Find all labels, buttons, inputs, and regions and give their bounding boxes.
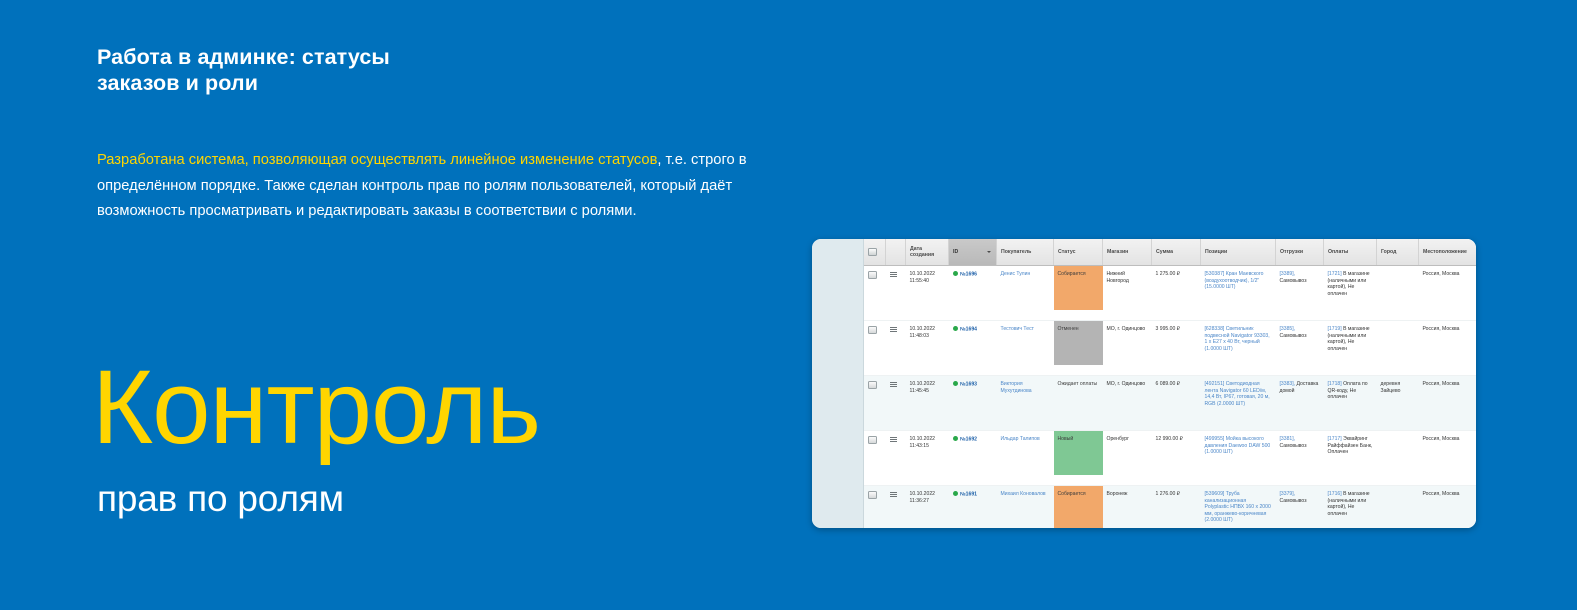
select-all-header[interactable] — [864, 239, 886, 266]
shipment-text: Самовывоз — [1280, 443, 1307, 449]
checkbox-icon[interactable] — [868, 381, 877, 389]
cell-items: [499955] Мойка высокого давления Daewoo … — [1201, 431, 1276, 486]
admin-screenshot-panel: Дата создания ID Покупатель Статус Магаз… — [812, 239, 1476, 528]
cell-payments: [1718] Оплата по QR-коду, Не оплачен — [1324, 376, 1377, 431]
cell-buyer[interactable]: Виктория Мухутдинова — [997, 376, 1054, 431]
cell-date: 10.10.2022 11:55:40 — [906, 266, 949, 321]
drag-handle-icon[interactable] — [890, 326, 897, 332]
cell-payments: [1721] В магазине (наличными или картой)… — [1324, 266, 1377, 321]
header-sum[interactable]: Сумма — [1152, 239, 1201, 266]
orders-table-body: 10.10.2022 11:55:40 №1696 Денис Тулин Со… — [864, 266, 1476, 529]
header-city[interactable]: Город — [1377, 239, 1419, 266]
slide-text-column: Работа в админке: статусы заказов и роли… — [97, 0, 797, 610]
status-dot-icon — [953, 381, 958, 386]
order-id-link[interactable]: №1692 — [960, 437, 977, 443]
item-id-link[interactable]: [628338] — [1205, 326, 1225, 332]
admin-sidebar-rail — [812, 239, 864, 528]
cell-buyer[interactable]: Ильдар Талипов — [997, 431, 1054, 486]
checkbox-icon[interactable] — [868, 248, 877, 256]
status-badge: Собирается — [1054, 266, 1103, 310]
shipment-id-link[interactable]: [3381], — [1280, 436, 1296, 442]
row-drag-cell[interactable] — [886, 431, 906, 486]
cell-items: [628338] Светильник подвесной Navigator … — [1201, 321, 1276, 376]
cell-items: [530387] Кран Маевского (воздухоотводчик… — [1201, 266, 1276, 321]
order-id-link[interactable]: №1693 — [960, 382, 977, 388]
cell-city: деревня Зайцево — [1377, 376, 1419, 431]
shipment-id-link[interactable]: [3383], — [1280, 381, 1296, 387]
status-dot-icon — [953, 436, 958, 441]
cell-buyer[interactable]: Михаил Коновалов — [997, 486, 1054, 529]
cell-location: Россия, Москва — [1419, 431, 1477, 486]
cell-city — [1377, 266, 1419, 321]
cell-sum: 3 995.00 ₽ — [1152, 321, 1201, 376]
cell-id[interactable]: №1691 — [949, 486, 997, 529]
header-status[interactable]: Статус — [1054, 239, 1103, 266]
header-date[interactable]: Дата создания — [906, 239, 949, 266]
drag-handle-icon[interactable] — [890, 436, 897, 442]
status-dot-icon — [953, 326, 958, 331]
cell-shop: Оренбург — [1103, 431, 1152, 486]
header-items[interactable]: Позиции — [1201, 239, 1276, 266]
status-badge: Новый — [1054, 431, 1103, 475]
table-row[interactable]: 10.10.2022 11:55:40 №1696 Денис Тулин Со… — [864, 266, 1476, 321]
cell-date: 10.10.2022 11:48:03 — [906, 321, 949, 376]
cell-id[interactable]: №1692 — [949, 431, 997, 486]
cell-buyer[interactable]: Денис Тулин — [997, 266, 1054, 321]
cell-date: 10.10.2022 11:45:45 — [906, 376, 949, 431]
cell-sum: 6 089.00 ₽ — [1152, 376, 1201, 431]
payment-id-link[interactable]: [1721] — [1328, 271, 1342, 277]
order-id-link[interactable]: №1694 — [960, 327, 977, 333]
drag-handle-header — [886, 239, 906, 266]
row-select-cell[interactable] — [864, 321, 886, 376]
order-id-link[interactable]: №1691 — [960, 492, 977, 498]
cell-shipments: [3379], Самовывоз — [1276, 486, 1324, 529]
cell-location: Россия, Москва — [1419, 486, 1477, 529]
description-paragraph: Разработана система, позволяющая осущест… — [97, 148, 757, 225]
cell-location: Россия, Москва — [1419, 266, 1477, 321]
page-title-line-2: заказов и роли — [97, 70, 617, 96]
header-id-label: ID — [953, 249, 958, 255]
cell-shop: Воронеж — [1103, 486, 1152, 529]
status-badge: Собирается — [1054, 486, 1103, 528]
chevron-down-icon[interactable] — [987, 251, 991, 253]
header-location[interactable]: Местоположение — [1419, 239, 1477, 266]
header-id[interactable]: ID — [949, 239, 997, 266]
status-dot-icon — [953, 271, 958, 276]
status-badge: Ожидает оплаты — [1054, 376, 1103, 420]
shipment-id-link[interactable]: [3379], — [1280, 491, 1296, 497]
table-row[interactable]: 10.10.2022 11:36:27 №1691 Михаил Коновал… — [864, 486, 1476, 529]
checkbox-icon[interactable] — [868, 271, 877, 279]
item-id-link[interactable]: [539609] — [1205, 491, 1225, 497]
row-select-cell[interactable] — [864, 431, 886, 486]
big-subheadline: прав по ролям — [97, 477, 344, 521]
cell-payments: [1716] В магазине (наличными или картой)… — [1324, 486, 1377, 529]
cell-sum: 12 990.00 ₽ — [1152, 431, 1201, 486]
checkbox-icon[interactable] — [868, 491, 877, 499]
status-dot-icon — [953, 491, 958, 496]
checkbox-icon[interactable] — [868, 436, 877, 444]
cell-payments: [1717] Эквайринг Райффайзен Банк, Оплаче… — [1324, 431, 1377, 486]
checkbox-icon[interactable] — [868, 326, 877, 334]
description-accent-text: Разработана система, позволяющая осущест… — [97, 152, 657, 168]
cell-shop: МО, г. Одинцово — [1103, 321, 1152, 376]
cell-date: 10.10.2022 11:36:27 — [906, 486, 949, 529]
row-drag-cell[interactable] — [886, 266, 906, 321]
row-select-cell[interactable] — [864, 376, 886, 431]
cell-items: [492151] Светодиодная лента Navigator 60… — [1201, 376, 1276, 431]
cell-shop: Нижний Новгород — [1103, 266, 1152, 321]
cell-shipments: [3381], Самовывоз — [1276, 431, 1324, 486]
status-badge: Отменен — [1054, 321, 1103, 365]
cell-status[interactable]: Новый — [1054, 431, 1103, 486]
shipment-text: Самовывоз — [1280, 278, 1307, 284]
row-drag-cell[interactable] — [886, 486, 906, 529]
cell-shipments: [3385], Самовывоз — [1276, 321, 1324, 376]
shipment-id-link[interactable]: [3385], — [1280, 326, 1296, 332]
cell-shipments: [3383], Доставка домой — [1276, 376, 1324, 431]
row-select-cell[interactable] — [864, 486, 886, 529]
cell-id[interactable]: №1694 — [949, 321, 997, 376]
cell-buyer[interactable]: Тестович Тест — [997, 321, 1054, 376]
cell-id[interactable]: №1693 — [949, 376, 997, 431]
row-drag-cell[interactable] — [886, 321, 906, 376]
row-select-cell[interactable] — [864, 266, 886, 321]
orders-table-viewport[interactable]: Дата создания ID Покупатель Статус Магаз… — [864, 239, 1476, 528]
cell-city — [1377, 321, 1419, 376]
cell-status[interactable]: Отменен — [1054, 321, 1103, 376]
table-row[interactable]: 10.10.2022 11:45:45 №1693 Виктория Мухут… — [864, 376, 1476, 431]
cell-shipments: [3389], Самовывоз — [1276, 266, 1324, 321]
shipment-text: Самовывоз — [1280, 498, 1307, 504]
cell-status[interactable]: Собирается — [1054, 486, 1103, 529]
table-header-row: Дата создания ID Покупатель Статус Магаз… — [864, 239, 1476, 266]
cell-status[interactable]: Собирается — [1054, 266, 1103, 321]
page-title-line-1: Работа в админке: статусы — [97, 44, 617, 70]
cell-shop: МО, г. Одинцово — [1103, 376, 1152, 431]
drag-handle-icon[interactable] — [890, 381, 897, 387]
payment-id-link[interactable]: [1716] — [1328, 491, 1342, 497]
big-headline: Контроль — [92, 355, 540, 460]
cell-location: Россия, Москва — [1419, 376, 1477, 431]
header-shipments[interactable]: Отгрузки — [1276, 239, 1324, 266]
cell-id[interactable]: №1696 — [949, 266, 997, 321]
cell-date: 10.10.2022 11:43:15 — [906, 431, 949, 486]
cell-payments: [1719] В магазине (наличными или картой)… — [1324, 321, 1377, 376]
item-id-link[interactable]: [530387] — [1205, 271, 1225, 277]
cell-location: Россия, Москва — [1419, 321, 1477, 376]
header-shop[interactable]: Магазин — [1103, 239, 1152, 266]
table-row[interactable]: 10.10.2022 11:48:03 №1694 Тестович Тест … — [864, 321, 1476, 376]
payment-id-link[interactable]: [1717] — [1328, 436, 1342, 442]
header-buyer[interactable]: Покупатель — [997, 239, 1054, 266]
payment-id-link[interactable]: [1718] — [1328, 381, 1342, 387]
cell-items: [539609] Труба канализационная Polyplast… — [1201, 486, 1276, 529]
payment-id-link[interactable]: [1719] — [1328, 326, 1342, 332]
drag-handle-icon[interactable] — [890, 271, 897, 277]
cell-status[interactable]: Ожидает оплаты — [1054, 376, 1103, 431]
cell-city — [1377, 486, 1419, 529]
shipment-text: Самовывоз — [1280, 333, 1307, 339]
orders-table: Дата создания ID Покупатель Статус Магаз… — [864, 239, 1476, 528]
cell-sum: 1 275.00 ₽ — [1152, 266, 1201, 321]
cell-sum: 1 276.00 ₽ — [1152, 486, 1201, 529]
cell-city — [1377, 431, 1419, 486]
order-id-link[interactable]: №1696 — [960, 272, 977, 278]
orders-table-header: Дата создания ID Покупатель Статус Магаз… — [864, 239, 1476, 266]
page-title: Работа в админке: статусы заказов и роли — [97, 44, 617, 96]
row-drag-cell[interactable] — [886, 376, 906, 431]
item-id-link[interactable]: [499955] — [1205, 436, 1225, 442]
drag-handle-icon[interactable] — [890, 491, 897, 497]
header-payments[interactable]: Оплаты — [1324, 239, 1377, 266]
item-id-link[interactable]: [492151] — [1205, 381, 1225, 387]
shipment-id-link[interactable]: [3389], — [1280, 271, 1296, 277]
table-row[interactable]: 10.10.2022 11:43:15 №1692 Ильдар Талипов… — [864, 431, 1476, 486]
